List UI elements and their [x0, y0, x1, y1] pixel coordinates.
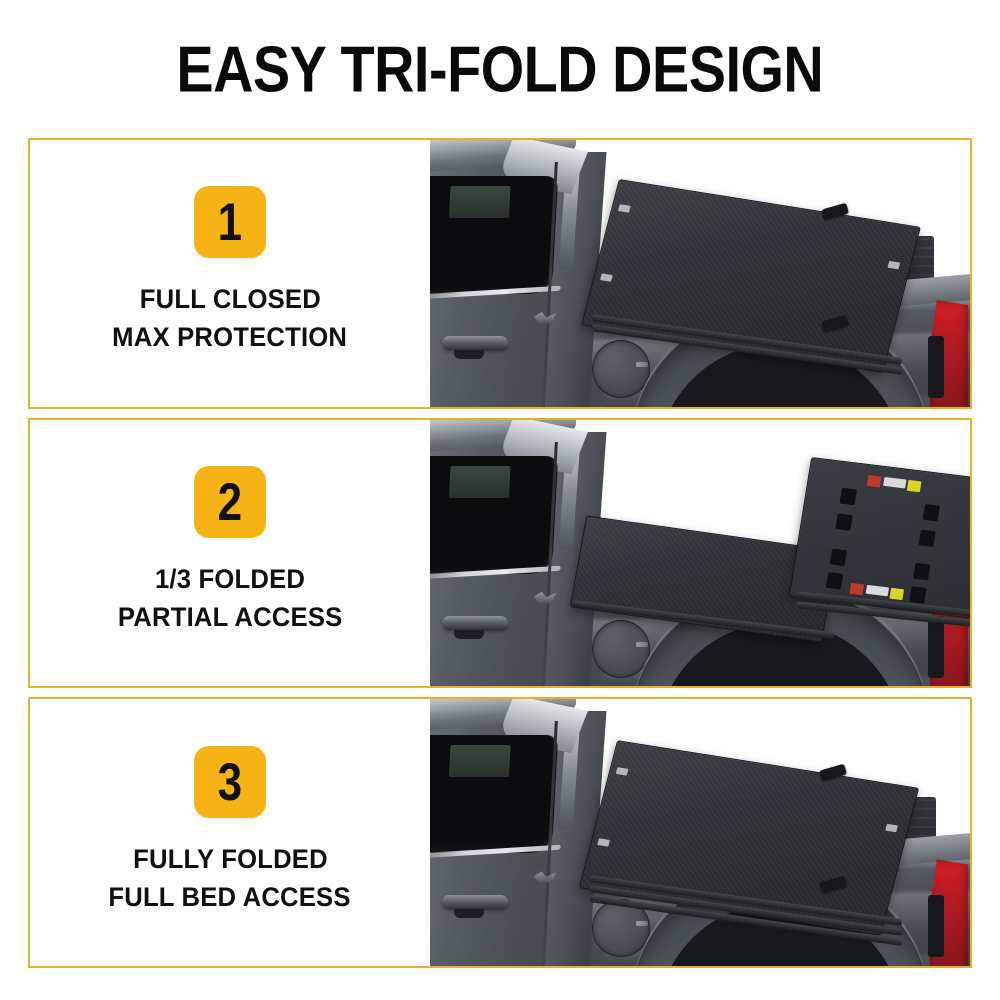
page-title: EASY TRI-FOLD DESIGN	[177, 38, 824, 103]
truck-photo-2	[430, 420, 970, 687]
instruction-label	[866, 585, 889, 597]
underside-pad	[922, 504, 940, 522]
caption-line-2a: 1/3 FOLDED	[155, 560, 305, 598]
panel-step-1: 1 FULL CLOSED MAX PROTECTION	[28, 138, 972, 409]
underside-pad	[918, 529, 936, 547]
door-handle-recess	[454, 350, 484, 359]
fuel-door-latch	[636, 921, 648, 926]
caption-line-3b: FULL BED ACCESS	[109, 878, 351, 916]
cover-clip-tab	[618, 204, 631, 212]
door-window	[430, 456, 558, 574]
fuel-door-latch	[636, 362, 648, 367]
door-handle	[442, 616, 508, 630]
taillight-reflector	[928, 895, 944, 957]
truck-photo-1	[430, 140, 970, 407]
step-badge-3: 3	[194, 746, 266, 818]
caption-line-2b: PARTIAL ACCESS	[118, 598, 343, 636]
panel-list: 1 FULL CLOSED MAX PROTECTION	[28, 138, 972, 968]
step-number-1: 1	[218, 196, 242, 249]
warning-label-red	[849, 583, 864, 595]
door-handle-recess	[454, 909, 484, 918]
taillight-reflector	[928, 336, 944, 398]
cover-clip-tab	[616, 768, 629, 776]
door-window	[430, 735, 558, 853]
window-reflection	[449, 745, 511, 777]
caption-line-1a: FULL CLOSED	[139, 280, 320, 318]
instruction-label	[883, 477, 906, 489]
underside-pad	[913, 562, 931, 580]
fuel-door-latch	[636, 642, 648, 647]
taillight-reflector	[928, 616, 944, 678]
door-handle	[442, 336, 508, 350]
underside-pad	[909, 586, 927, 604]
warning-label-yellow	[889, 587, 904, 599]
underside-pad	[826, 572, 844, 590]
warning-label-yellow	[907, 480, 922, 492]
window-reflection	[449, 186, 511, 218]
underside-pad	[835, 513, 853, 531]
underside-pad	[830, 548, 848, 566]
step-number-2: 2	[218, 476, 242, 529]
caption-line-1b: MAX PROTECTION	[113, 318, 348, 356]
fuel-filler-door	[592, 340, 650, 398]
step-number-3: 3	[218, 755, 242, 808]
header: EASY TRI-FOLD DESIGN	[0, 0, 1000, 132]
step-badge-1: 1	[194, 186, 266, 258]
cover-clip-tab	[600, 273, 613, 281]
caption-block-2: 2 1/3 FOLDED PARTIAL ACCESS	[30, 420, 430, 687]
panel-step-2: 2 1/3 FOLDED PARTIAL ACCESS	[28, 418, 972, 689]
door-handle	[442, 895, 508, 909]
window-reflection	[449, 466, 511, 498]
caption-line-3a: FULLY FOLDED	[133, 840, 328, 878]
cover-clip-tab	[885, 824, 898, 832]
cover-clip-tab	[597, 839, 610, 847]
truck-photo-3	[430, 699, 970, 966]
warning-label-red	[867, 475, 882, 487]
cover-clip-tab	[887, 261, 900, 269]
caption-block-1: 1 FULL CLOSED MAX PROTECTION	[30, 140, 430, 407]
door-handle-recess	[454, 630, 484, 639]
door-window	[430, 176, 558, 294]
panel-step-3: 3 FULLY FOLDED FULL BED ACCESS	[28, 697, 972, 968]
caption-block-3: 3 FULLY FOLDED FULL BED ACCESS	[30, 699, 430, 966]
step-badge-2: 2	[194, 466, 266, 538]
underside-pad	[839, 487, 857, 505]
